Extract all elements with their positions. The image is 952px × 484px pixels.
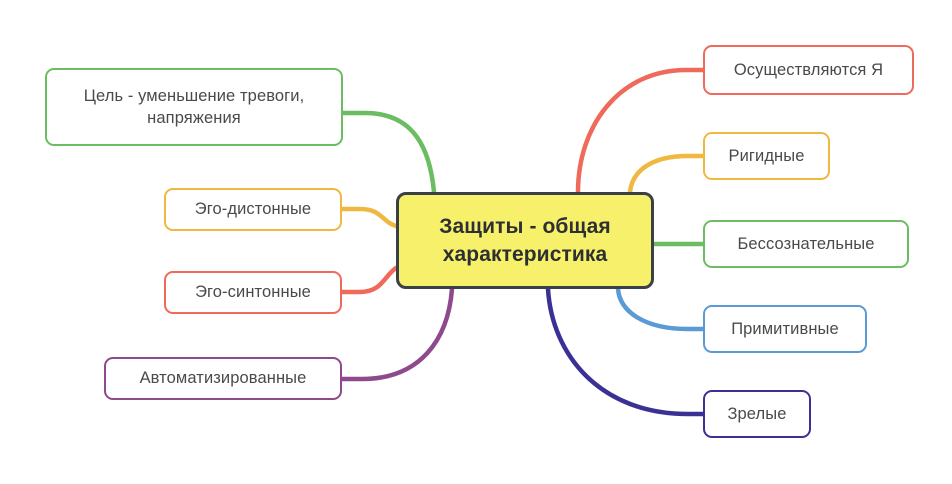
connector-ego-sintonnye [342,268,396,292]
connector-primitivnye [618,289,703,329]
connector-zrelye [548,289,703,414]
branch-node-label: Бессознательные [723,233,888,255]
branch-node-cel[interactable]: Цель - уменьшение тревоги, напряжения [45,68,343,146]
connector-avtomatizirovannye [342,289,452,379]
central-node-label: Защиты - общая характеристика [425,213,624,268]
branch-node-osushchestvlyayutsya-ya[interactable]: Осуществляются Я [703,45,914,95]
branch-node-ego-sintonnye[interactable]: Эго-синтонные [164,271,342,314]
central-node[interactable]: Защиты - общая характеристика [396,192,654,289]
branch-node-label: Автоматизированные [126,367,321,389]
branch-node-label: Эго-синтонные [181,281,325,303]
connector-cel [343,113,434,192]
branch-node-ego-distonnye[interactable]: Эго-дистонные [164,188,342,231]
branch-node-label: Примитивные [717,318,853,340]
branch-node-label: Эго-дистонные [181,198,325,220]
branch-node-primitivnye[interactable]: Примитивные [703,305,867,353]
branch-node-label: Ригидные [714,145,818,167]
branch-node-bessoznatelnye[interactable]: Бессознательные [703,220,909,268]
branch-node-label: Осуществляются Я [720,59,897,81]
connector-rigidnye [630,156,703,192]
connector-ego-distonnye [342,209,396,226]
branch-node-zrelye[interactable]: Зрелые [703,390,811,438]
connector-osushchestvlyayutsya-ya [578,70,703,192]
branch-node-label: Зрелые [713,403,800,425]
branch-node-label: Цель - уменьшение тревоги, напряжения [70,85,319,130]
mindmap-canvas: Защиты - общая характеристика Цель - уме… [0,0,952,484]
branch-node-avtomatizirovannye[interactable]: Автоматизированные [104,357,342,400]
branch-node-rigidnye[interactable]: Ригидные [703,132,830,180]
